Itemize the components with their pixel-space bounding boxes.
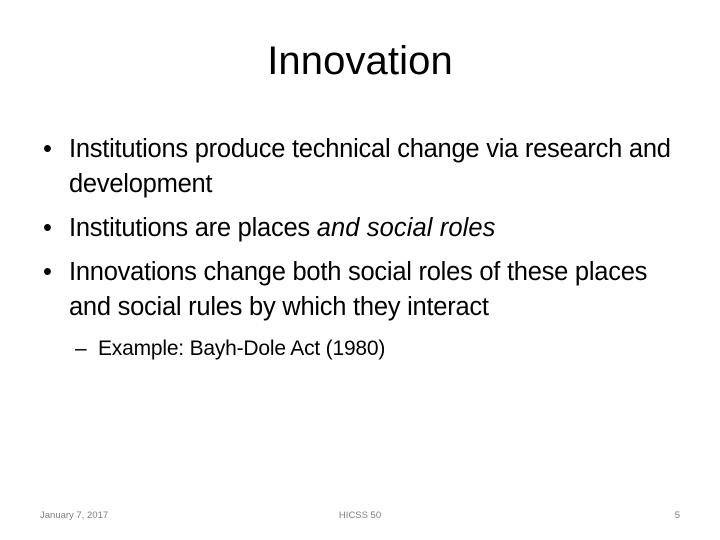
dash-marker-icon: – (75, 334, 86, 363)
bullet-item: • Institutions produce technical change … (36, 132, 684, 202)
slide-title: Innovation (36, 38, 684, 84)
bullet-text: Innovations change both social roles of … (69, 255, 684, 325)
presentation-slide: Innovation • Institutions produce techni… (0, 0, 720, 540)
bullet-text: Institutions produce technical change vi… (69, 132, 684, 202)
footer-page-number: 5 (580, 509, 680, 522)
bullet-marker-icon: • (43, 132, 52, 167)
bullet-text-run: Institutions are places (69, 214, 317, 242)
sub-bullet-text: Example: Bayh-Dole Act (1980) (98, 334, 684, 363)
bullet-item: • Innovations change both social roles o… (36, 255, 684, 325)
sub-bullet-item: – Example: Bayh-Dole Act (1980) (36, 334, 684, 363)
bullet-text-run: Innovations change both social roles of … (69, 258, 647, 321)
footer-date: January 7, 2017 (40, 509, 108, 522)
bullet-item: • Institutions are places and social rol… (36, 211, 684, 246)
bullet-text-emphasis: and social roles (317, 214, 496, 242)
bullet-marker-icon: • (43, 211, 52, 246)
footer-event-name: HICSS 50 (260, 509, 460, 522)
bullet-text-run: Institutions produce technical change vi… (69, 135, 671, 198)
slide-body: • Institutions produce technical change … (36, 132, 684, 363)
bullet-text: Institutions are places and social roles (69, 211, 684, 246)
bullet-marker-icon: • (43, 255, 52, 290)
